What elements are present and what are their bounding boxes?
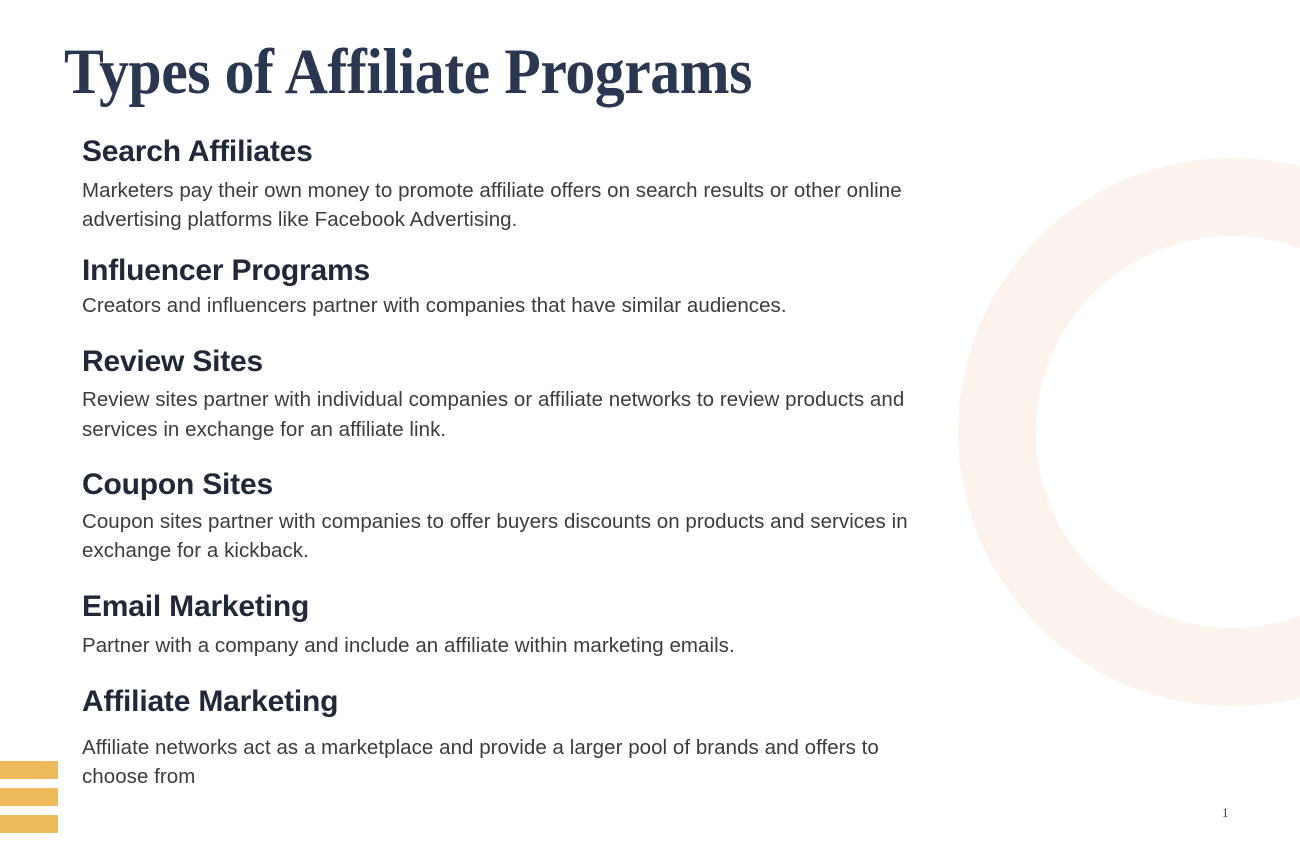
section-body-affiliate-marketing: Affiliate networks act as a marketplace … xyxy=(82,733,922,792)
list-item-influencer-programs: Influencer Programs Creators and influen… xyxy=(82,253,942,321)
list-item-search-affiliates: Search Affiliates Marketers pay their ow… xyxy=(82,134,942,235)
section-heading-review-sites: Review Sites xyxy=(82,344,942,381)
list-item-coupon-sites: Coupon Sites Coupon sites partner with c… xyxy=(82,467,942,566)
section-heading-affiliate-marketing: Affiliate Marketing xyxy=(82,684,942,721)
section-heading-email-marketing: Email Marketing xyxy=(82,589,942,626)
slide-content: Types of Affiliate Programs Search Affil… xyxy=(0,0,1300,866)
section-body-email-marketing: Partner with a company and include an af… xyxy=(82,631,922,661)
section-body-review-sites: Review sites partner with individual com… xyxy=(82,385,922,444)
list-item-email-marketing: Email Marketing Partner with a company a… xyxy=(82,589,942,660)
section-body-coupon-sites: Coupon sites partner with companies to o… xyxy=(82,507,922,566)
section-heading-influencer-programs: Influencer Programs xyxy=(82,253,942,290)
list-item-review-sites: Review Sites Review sites partner with i… xyxy=(82,344,942,445)
slide-canvas: Types of Affiliate Programs Search Affil… xyxy=(0,0,1300,866)
section-body-search-affiliates: Marketers pay their own money to promote… xyxy=(82,176,922,235)
list-item-affiliate-marketing: Affiliate Marketing Affiliate networks a… xyxy=(82,684,942,792)
page-title: Types of Affiliate Programs xyxy=(64,38,752,106)
section-heading-coupon-sites: Coupon Sites xyxy=(82,467,942,504)
page-number: 1 xyxy=(1222,805,1229,821)
section-heading-search-affiliates: Search Affiliates xyxy=(82,134,942,171)
affiliate-program-types-list: Search Affiliates Marketers pay their ow… xyxy=(82,134,942,792)
section-body-influencer-programs: Creators and influencers partner with co… xyxy=(82,291,922,321)
